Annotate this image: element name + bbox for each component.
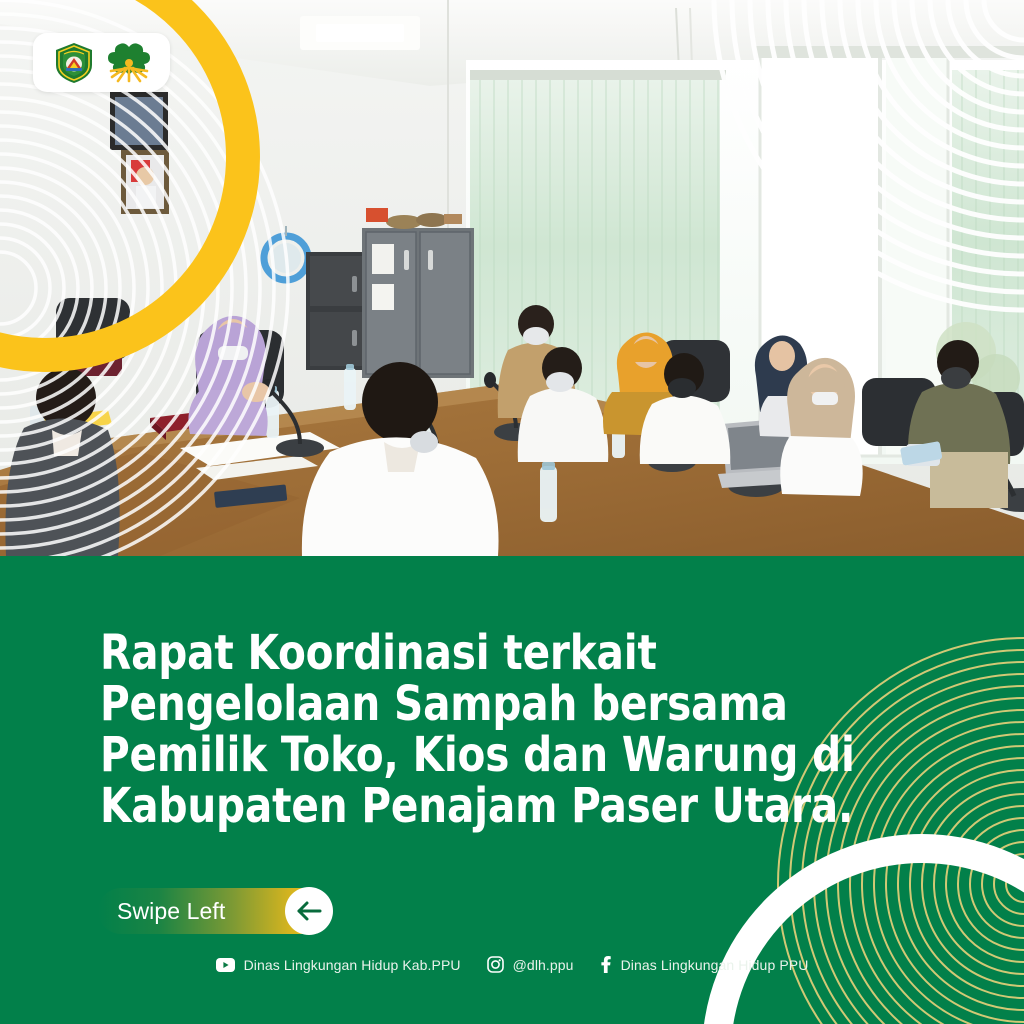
youtube-icon: [216, 958, 235, 972]
kabupaten-penajam-paser-utara-emblem: [52, 41, 96, 85]
social-media-post: Rapat Koordinasi terkait Pengelolaan Sam…: [0, 0, 1024, 1024]
instagram-icon: [487, 956, 504, 973]
white-arc-decoration: [702, 834, 1024, 1024]
headline-line-3: Pemilik Toko, Kios dan Warung di: [100, 730, 871, 781]
swipe-left-button[interactable]: Swipe Left: [98, 888, 332, 934]
instagram-handle: @dlh.ppu: [513, 957, 574, 973]
facebook-icon: [600, 956, 612, 973]
facebook-handle: Dinas Lingkungan Hidup PPU: [621, 957, 809, 973]
youtube-handle: Dinas Lingkungan Hidup Kab.PPU: [244, 957, 461, 973]
headline-line-2: Pengelolaan Sampah bersama: [100, 679, 871, 730]
social-link-instagram[interactable]: @dlh.ppu: [487, 956, 574, 973]
headline-line-1: Rapat Koordinasi terkait: [100, 628, 871, 679]
meeting-photo: [0, 0, 1024, 556]
social-link-facebook[interactable]: Dinas Lingkungan Hidup PPU: [600, 956, 809, 973]
social-media-bar: Dinas Lingkungan Hidup Kab.PPU @dlh.ppu …: [0, 956, 1024, 973]
dinas-lingkungan-hidup-logo: [106, 41, 152, 85]
headline-line-4: Kabupaten Penajam Paser Utara.: [100, 781, 871, 832]
swipe-left-label: Swipe Left: [117, 898, 225, 925]
swipe-arrow-circle[interactable]: [285, 887, 333, 935]
green-caption-panel: Rapat Koordinasi terkait Pengelolaan Sam…: [0, 556, 1024, 1024]
arrow-left-icon: [295, 900, 323, 922]
social-link-youtube[interactable]: Dinas Lingkungan Hidup Kab.PPU: [216, 957, 461, 973]
brand-logo-badge: [33, 33, 170, 92]
page-title: Rapat Koordinasi terkait Pengelolaan Sam…: [100, 628, 920, 832]
